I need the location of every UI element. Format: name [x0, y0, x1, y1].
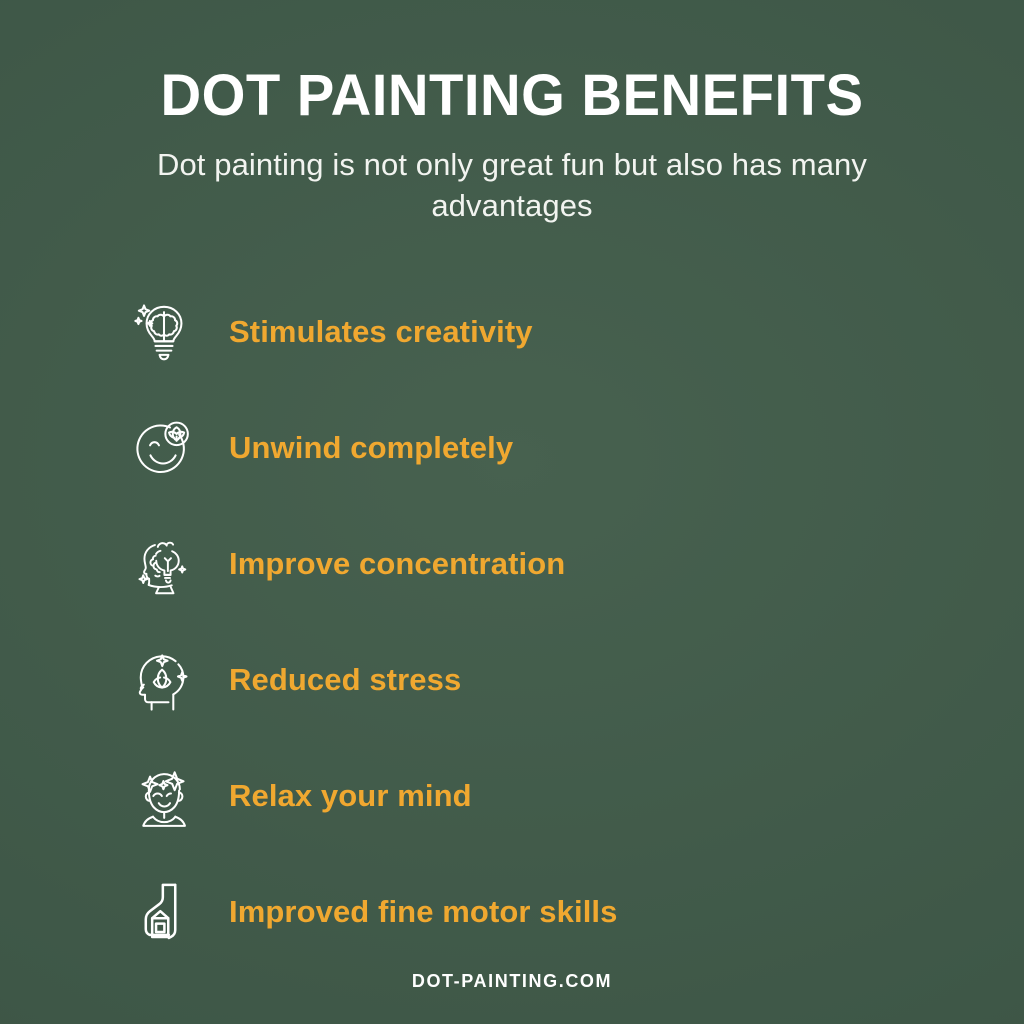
list-item: Improved fine motor skills: [133, 854, 1024, 970]
benefit-label: Improved fine motor skills: [229, 896, 617, 927]
calm-face-stars-icon: [133, 763, 195, 829]
brain-lightbulb-icon: [133, 299, 195, 365]
benefit-label: Unwind completely: [229, 432, 513, 463]
list-item: Improve concentration: [133, 506, 1024, 622]
benefit-label: Reduced stress: [229, 664, 461, 695]
poster-canvas: DOT PAINTING BENEFITS Dot painting is no…: [0, 0, 1024, 1024]
hand-holding-block-icon: [133, 879, 195, 945]
benefits-list: Stimulates creativity Unwind completely: [0, 274, 1024, 970]
benefit-label: Improve concentration: [229, 548, 565, 579]
poster-header: DOT PAINTING BENEFITS Dot painting is no…: [0, 0, 1024, 227]
head-profile-lightbulb-icon: [133, 531, 195, 597]
smiling-face-flower-icon: [133, 415, 195, 481]
website-url: DOT-PAINTING.COM: [412, 971, 612, 991]
benefit-label: Stimulates creativity: [229, 316, 533, 347]
list-item: Reduced stress: [133, 622, 1024, 738]
page-subtitle: Dot painting is not only great fun but a…: [147, 145, 877, 227]
list-item: Unwind completely: [133, 390, 1024, 506]
list-item: Stimulates creativity: [133, 274, 1024, 390]
page-title: DOT PAINTING BENEFITS: [15, 66, 1008, 127]
poster-footer: DOT-PAINTING.COM: [0, 971, 1024, 992]
benefit-label: Relax your mind: [229, 780, 472, 811]
head-lotus-icon: [133, 647, 195, 713]
list-item: Relax your mind: [133, 738, 1024, 854]
